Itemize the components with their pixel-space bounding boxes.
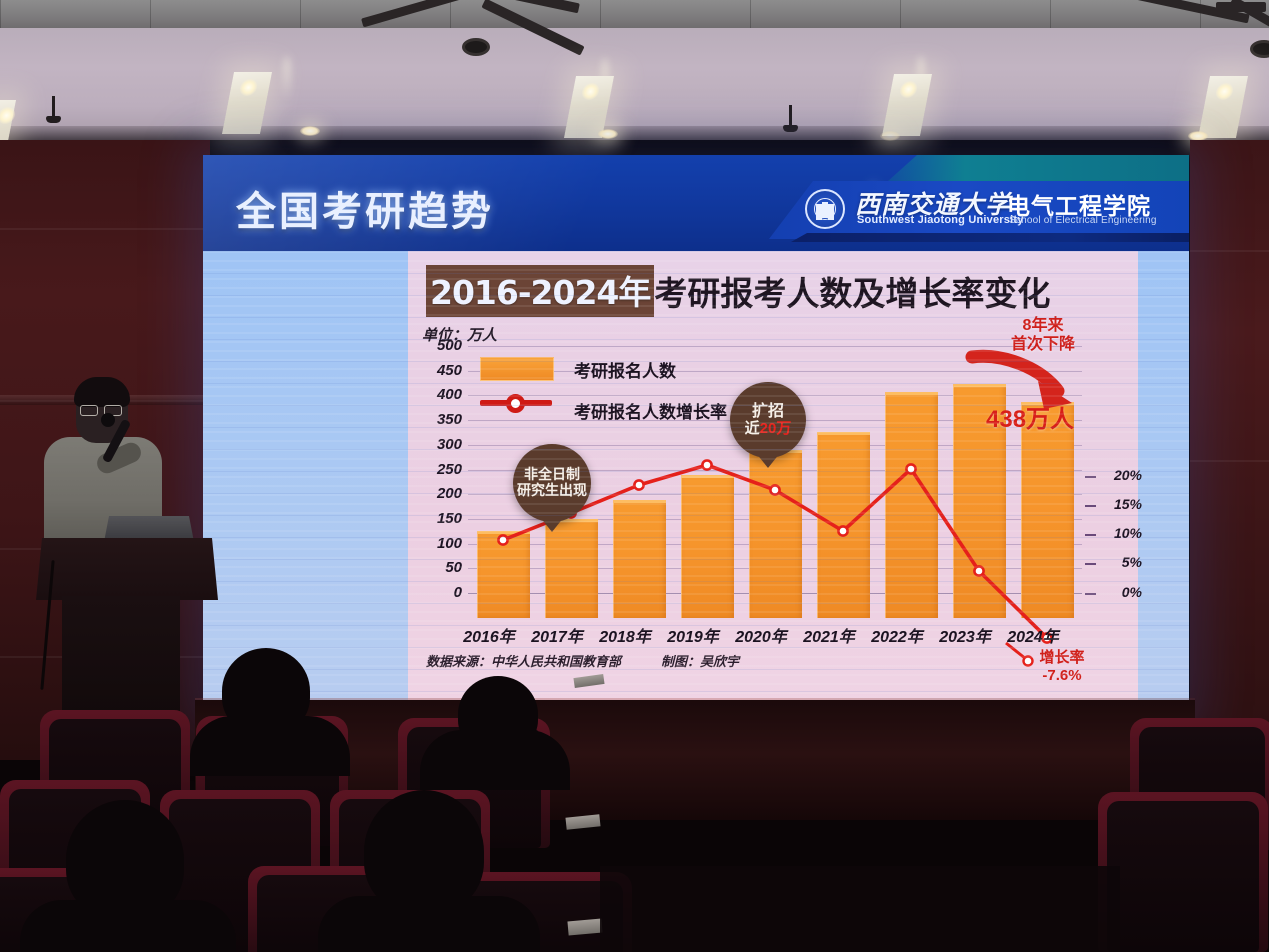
wall-right — [1190, 140, 1269, 780]
legend-label-bar: 考研报名人数 — [574, 357, 676, 382]
ceiling-spotlight-2 — [598, 129, 618, 139]
aisle-shadow — [600, 866, 1120, 952]
xlabel-2018: 2018年 — [589, 623, 661, 647]
rtick-20pct: 20% — [1114, 467, 1142, 483]
seat — [1098, 792, 1268, 952]
annotation-value-2024: 438万人 — [986, 399, 1074, 434]
ceiling-tile-grid — [0, 0, 1269, 30]
xlabel-2020: 2020年 — [725, 623, 797, 647]
chart-credit-text: 制图：吴欣宇 — [661, 654, 739, 669]
annotation-part-time-tip — [540, 517, 564, 532]
ceiling-soffit — [0, 28, 1269, 140]
presenter-hair — [74, 377, 130, 407]
audience-shoulders — [420, 730, 570, 790]
annotation-expansion-bubble: 扩招 近20万 — [730, 382, 806, 458]
logo-band-shadow — [791, 233, 1189, 242]
legend-swatch-bar — [480, 357, 554, 381]
university-logo-band: 西南交通大学 Southwest Jiaotong University 电气工… — [769, 181, 1189, 239]
pendant-fixture-2 — [789, 105, 792, 127]
xlabel-2019: 2019年 — [657, 623, 729, 647]
rtick-5pct: 5% — [1122, 554, 1142, 570]
legend-line-circle-icon — [506, 394, 525, 413]
line-point-2021 — [838, 526, 847, 535]
line-point-2018 — [634, 480, 643, 489]
pendant-fixture-1 — [52, 96, 55, 118]
chart-title-rest: 考研报考人数及增长率变化 — [654, 267, 1050, 315]
slide-body: 2016-2024年考研报考人数及增长率变化 单位：万人 500 450 400… — [203, 251, 1189, 720]
annotation-first-drop-line1: 8年来 — [988, 317, 1098, 336]
annotation-rate-leader-line — [1004, 641, 1044, 671]
screenshot-root: 全国考研趋势 西南交通大学 Southwest Jiaotong Univers… — [0, 0, 1269, 952]
microphone-head — [101, 413, 115, 427]
line-point-2016 — [498, 535, 507, 544]
xlabel-2023: 2023年 — [929, 623, 1001, 647]
chart-title: 2016-2024年考研报考人数及增长率变化 — [426, 269, 1126, 313]
annotation-part-time-line2: 研究生出现 — [517, 483, 587, 499]
annotation-expansion-highlight: 20万 — [760, 420, 792, 437]
audience-shoulders — [318, 896, 540, 952]
audience-shoulders — [20, 900, 236, 952]
wall-light-glow-1 — [284, 56, 290, 102]
chart-source-text: 数据来源：中华人民共和国教育部 — [426, 654, 621, 669]
xlabel-2016: 2016年 — [453, 623, 525, 647]
school-name-en: School of Electrical Engineering — [1009, 215, 1157, 226]
line-point-2022 — [906, 464, 915, 473]
rtick-10pct: 10% — [1114, 525, 1142, 541]
annotation-part-time-line1: 非全日制 — [524, 467, 580, 483]
audience-shoulders — [190, 716, 350, 776]
chart-source: 数据来源：中华人民共和国教育部制图：吴欣宇 — [426, 651, 739, 670]
chart-panel: 2016-2024年考研报考人数及增长率变化 单位：万人 500 450 400… — [408, 251, 1138, 720]
annotation-part-time-bubble: 非全日制 研究生出现 — [513, 444, 591, 522]
podium-top — [36, 538, 218, 600]
annotation-first-drop: 8年来 首次下降 — [988, 317, 1098, 355]
projection-screen: 全国考研趋势 西南交通大学 Southwest Jiaotong Univers… — [203, 155, 1189, 720]
slide-title: 全国考研趋势 — [236, 179, 494, 237]
ceiling-fan-left — [360, 0, 600, 50]
rtick-0pct: 0% — [1122, 584, 1142, 600]
ceiling-fan-far-right — [1216, 0, 1269, 26]
handout-paper — [567, 919, 602, 936]
xlabel-2022: 2022年 — [861, 623, 933, 647]
annotation-expansion-line1: 扩招 — [752, 403, 784, 421]
annotation-expansion-prefix: 近 — [745, 420, 760, 437]
line-point-2023 — [974, 566, 983, 575]
podium-column — [62, 596, 180, 716]
xlabel-2021: 2021年 — [793, 623, 865, 647]
handout-paper — [565, 814, 600, 829]
ceiling-spotlight-3 — [880, 131, 900, 141]
chart-x-axis: 2016年 2017年 2018年 2019年 2020年 2021年 2022… — [458, 623, 1072, 647]
slide-header: 全国考研趋势 西南交通大学 Southwest Jiaotong Univers… — [203, 155, 1189, 251]
chart-title-highlight: 2016-2024年 — [426, 265, 654, 317]
line-point-2020 — [770, 485, 779, 494]
ceiling-spotlight-1 — [300, 126, 320, 136]
university-name-en: Southwest Jiaotong University — [857, 214, 1024, 226]
university-seal-icon — [805, 189, 845, 229]
rtick-15pct: 15% — [1114, 496, 1142, 512]
annotation-expansion-tip — [756, 453, 780, 468]
xlabel-2017: 2017年 — [521, 623, 593, 647]
line-point-2019 — [702, 460, 711, 469]
legend-label-line: 考研报名人数增长率 — [574, 398, 727, 423]
